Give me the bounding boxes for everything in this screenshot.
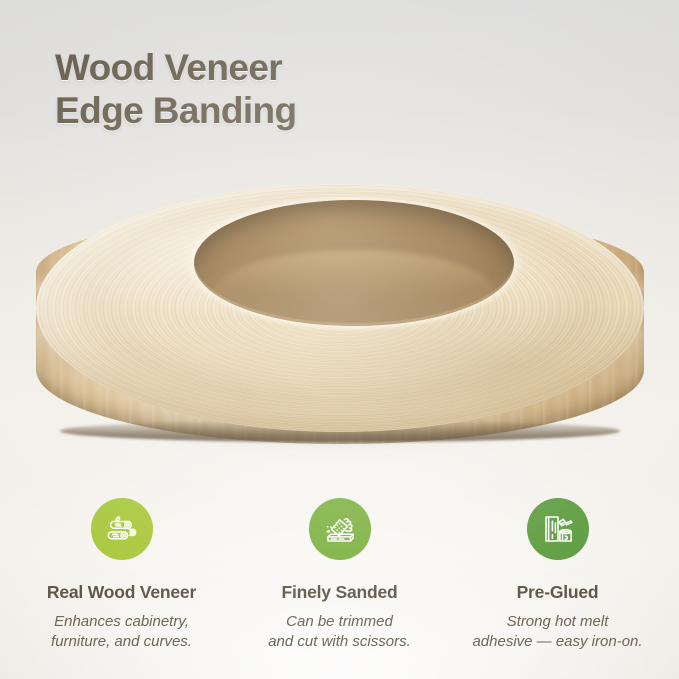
hand-sanding-block-icon — [322, 511, 358, 547]
feature-badge-3 — [527, 498, 589, 560]
feature-title: Real Wood Veneer — [47, 582, 196, 603]
feature-badge-2 — [309, 498, 371, 560]
product-infographic: Wood Veneer Edge Banding — [0, 0, 679, 679]
feature-title: Pre-Glued — [517, 582, 599, 603]
page-title: Wood Veneer Edge Banding — [55, 46, 297, 133]
feature-description: Strong hot melt adhesive — easy iron-on. — [472, 612, 642, 653]
wood-logs-icon — [104, 511, 140, 547]
feature-badge-1 — [91, 498, 153, 560]
feature-item-pre-glued: Pre-Glued Strong hot melt adhesive — eas… — [449, 498, 667, 653]
product-image-edge-banding-roll — [8, 182, 671, 464]
roll-center-hole — [194, 200, 514, 326]
glue-brush-and-can-icon — [540, 511, 576, 547]
feature-title: Finely Sanded — [281, 582, 397, 603]
feature-item-real-wood-veneer: Real Wood Veneer Enhances cabinetry, fur… — [13, 498, 231, 653]
roll-hole-lip — [194, 200, 514, 326]
feature-description: Enhances cabinetry, furniture, and curve… — [51, 612, 192, 653]
title-line-2: Edge Banding — [55, 89, 297, 132]
feature-list: Real Wood Veneer Enhances cabinetry, fur… — [0, 498, 679, 653]
feature-description: Can be trimmed and cut with scissors. — [268, 612, 411, 653]
title-line-1: Wood Veneer — [55, 46, 297, 89]
feature-item-finely-sanded: Finely Sanded Can be trimmed and cut wit… — [231, 498, 449, 653]
